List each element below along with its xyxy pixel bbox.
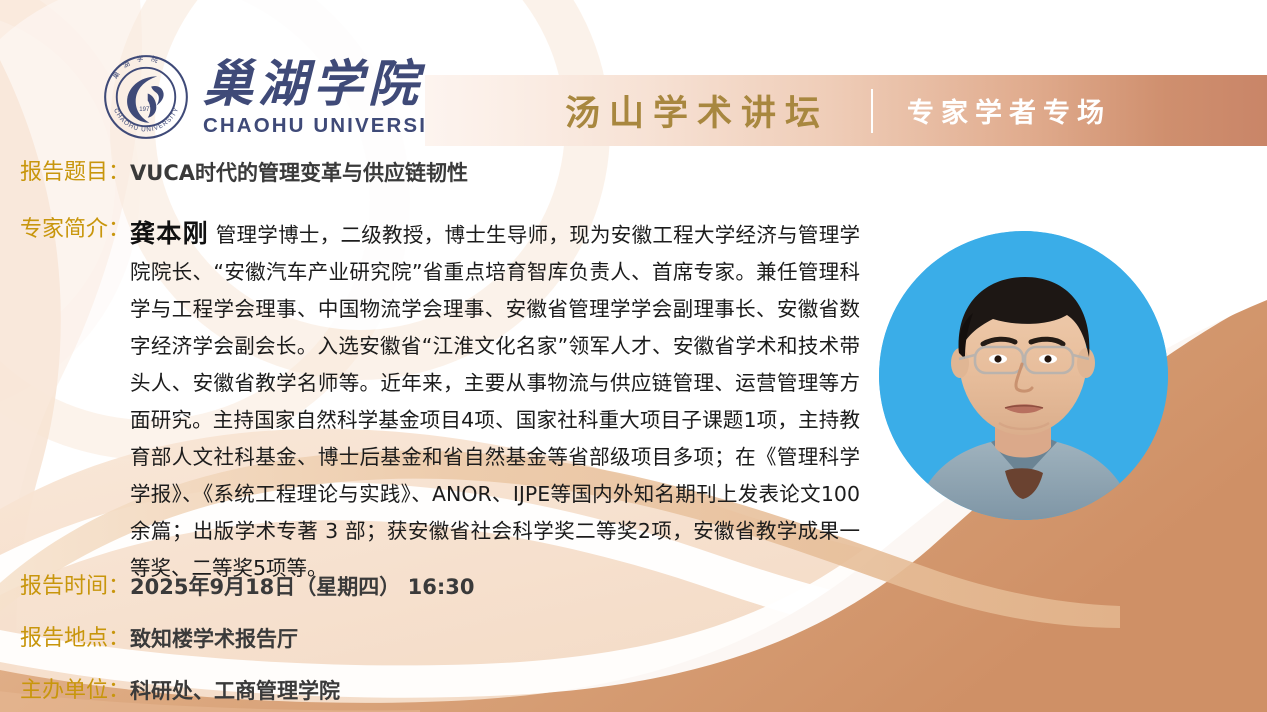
label-speaker-bio: 专家简介： bbox=[20, 215, 130, 245]
row-report-title: 报告题目： VUCA时代的管理变革与供应链韧性 bbox=[20, 158, 468, 188]
speaker-name: 龚本刚 bbox=[130, 219, 209, 248]
value-organizer: 科研处、工商管理学院 bbox=[130, 676, 340, 706]
label-organizer: 主办单位： bbox=[20, 676, 130, 706]
value-report-title: VUCA时代的管理变革与供应链韧性 bbox=[130, 158, 468, 188]
label-report-title: 报告题目： bbox=[20, 158, 130, 188]
speaker-bio-text: 龚本刚 管理学博士，二级教授，博士生导师，现为安徽工程大学经济与管理学院院长、“… bbox=[130, 215, 860, 587]
speaker-bio-body: 管理学博士，二级教授，博士生导师，现为安徽工程大学经济与管理学院院长、“安徽汽车… bbox=[130, 223, 860, 580]
row-report-place: 报告地点： 致知楼学术报告厅 bbox=[20, 624, 298, 654]
poster-canvas: 1977 CHAOHU UNIVERSITY 巢湖学院 巢湖学院 CHAOHU … bbox=[0, 0, 1267, 712]
value-report-time: 2025年9月18日（星期四） 16:30 bbox=[130, 572, 474, 602]
row-speaker-bio: 专家简介： 龚本刚 管理学博士，二级教授，博士生导师，现为安徽工程大学经济与管理… bbox=[20, 215, 860, 587]
row-organizer: 主办单位： 科研处、工商管理学院 bbox=[20, 676, 340, 706]
value-report-place: 致知楼学术报告厅 bbox=[130, 624, 298, 654]
row-report-time: 报告时间： 2025年9月18日（星期四） 16:30 bbox=[20, 572, 474, 602]
poster-content: 报告题目： VUCA时代的管理变革与供应链韧性 专家简介： 龚本刚 管理学博士，… bbox=[0, 0, 1267, 712]
label-report-time: 报告时间： bbox=[20, 572, 130, 602]
label-report-place: 报告地点： bbox=[20, 624, 130, 654]
